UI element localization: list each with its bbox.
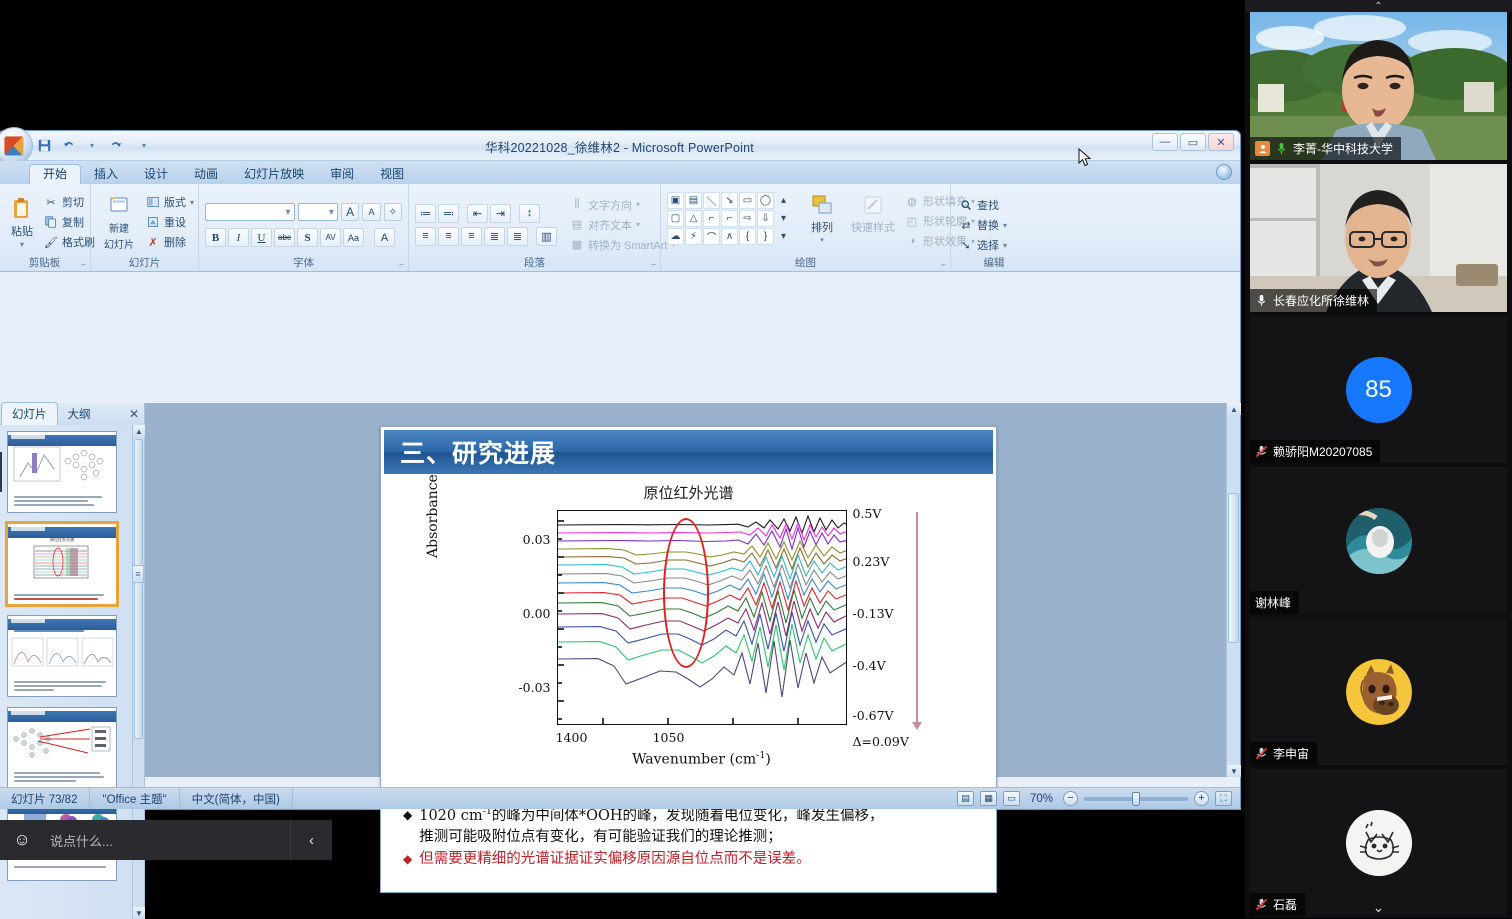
font-name-chevron-down-icon[interactable]: ▾ xyxy=(285,207,290,218)
line-spacing-button[interactable]: ↕ xyxy=(519,204,540,223)
select-chevron-down-icon[interactable]: ▾ xyxy=(1003,241,1007,250)
new-slide-label-2: 幻灯片 xyxy=(104,236,134,251)
arrange-label: 排列 xyxy=(811,219,833,235)
bullet-list-button[interactable]: ≔ xyxy=(415,204,436,223)
shape-right-arrow-icon[interactable]: ⇨ xyxy=(739,210,756,227)
delete-label: 删除 xyxy=(164,234,186,250)
grow-font-button[interactable]: A xyxy=(341,203,359,221)
avatar xyxy=(1346,810,1412,876)
help-icon[interactable]: ? xyxy=(1216,164,1232,180)
replace-button[interactable]: ⇄ 替换 ▾ xyxy=(957,216,1009,234)
new-slide-button[interactable]: 新建 幻灯片 xyxy=(96,193,142,251)
emoji-icon[interactable]: ☺ xyxy=(0,820,44,860)
participant-tile[interactable]: 李菁-华中科技大学 xyxy=(1250,12,1507,160)
tab-design[interactable]: 设计 xyxy=(131,165,181,184)
shrink-font-button[interactable]: A xyxy=(362,203,380,221)
thumbnail-content xyxy=(8,443,116,512)
zoom-in-button[interactable]: + xyxy=(1194,791,1209,806)
font-size-chevron-down-icon[interactable]: ▾ xyxy=(329,207,334,218)
bold-button[interactable]: B xyxy=(205,228,226,247)
thumbnail-slide-4[interactable] xyxy=(7,707,117,789)
participant-name-chip: 李申宙 xyxy=(1250,742,1317,765)
participant-video-rail: ⌃ xyxy=(1245,0,1512,918)
slide-scroll-up-icon[interactable]: ▲ xyxy=(1227,403,1241,415)
slide-counter: 幻灯片 73/82 xyxy=(0,788,90,809)
zoom-level-label: 70% xyxy=(1030,793,1053,805)
arrange-icon xyxy=(809,192,835,218)
thumbnail-content: 原位红外光谱 xyxy=(8,535,116,604)
paste-dropdown-icon[interactable]: ▾ xyxy=(20,240,24,249)
tab-slideshow[interactable]: 幻灯片放映 xyxy=(231,165,317,184)
shape-outline-icon: ◰ xyxy=(905,214,919,228)
paragraph-dialog-launcher-icon[interactable]: ⌐ xyxy=(651,260,656,269)
thumbnail-slide-2[interactable]: 原位红外光谱 xyxy=(7,523,117,605)
chart-y-axis-label: Absorbance xyxy=(425,474,441,558)
font-size-combo[interactable]: ▾ xyxy=(298,203,338,221)
font-name-combo[interactable]: ▾ xyxy=(205,203,295,221)
arrange-chevron-down-icon[interactable]: ▾ xyxy=(820,236,824,244)
scissors-icon: ✂ xyxy=(44,195,58,209)
italic-button[interactable]: I xyxy=(228,228,249,247)
potential-label-neg-0-13v: -0.13V xyxy=(853,606,894,621)
participant-tile[interactable]: 谢林峰 xyxy=(1250,467,1507,614)
shape-rect-icon[interactable]: ▭ xyxy=(739,192,756,209)
microphone-muted-icon xyxy=(1255,746,1268,761)
layout-icon xyxy=(146,195,160,209)
participant-name: 赖骄阳M20207085 xyxy=(1273,443,1372,460)
participant-name: 李申宙 xyxy=(1273,745,1309,762)
shape-line-icon[interactable]: ＼ xyxy=(703,192,720,209)
slide-scrollbar-thumb[interactable] xyxy=(1228,493,1239,643)
zoom-slider-thumb[interactable] xyxy=(1132,792,1140,806)
chart-title: 原位红外光谱 xyxy=(429,482,949,503)
close-pane-icon[interactable]: ✕ xyxy=(129,407,139,421)
x-axis-label-superscript: -1 xyxy=(756,750,765,761)
align-text-label: 对齐文本 xyxy=(588,217,632,233)
host-badge-icon xyxy=(1255,141,1270,156)
x-tick-1050: 1050 xyxy=(634,730,704,745)
bullet-item-1: ◆ 1020 cm-1的峰为中间体*OOH的峰，发现随着电位变化，峰发生偏移，推… xyxy=(403,805,982,848)
arrange-button[interactable]: 排列 ▾ xyxy=(799,192,845,244)
rail-collapse-up-button[interactable]: ⌃ xyxy=(1245,0,1512,12)
language-indicator[interactable]: 中文(简体，中国) xyxy=(180,788,293,809)
potential-label-neg-0-4v: -0.4V xyxy=(853,658,886,673)
paragraph-group-label: 段落 xyxy=(409,255,660,270)
align-text-chevron-down-icon[interactable]: ▾ xyxy=(636,220,640,229)
shape-right-brace-icon[interactable]: } xyxy=(757,228,774,245)
tab-animations[interactable]: 动画 xyxy=(181,165,231,184)
window-title: 华科20221028_徐维林2 - Microsoft PowerPoint xyxy=(0,137,1240,156)
slide-title-banner: 三、研究进展 xyxy=(384,430,993,474)
status-bar-right: ▤ ▦ ▭ 70% − + ⛶ xyxy=(957,791,1240,806)
ribbon-group-slides: 新建 幻灯片 版式 ▾ xyxy=(91,184,199,271)
shape-cloud-icon[interactable]: ☁ xyxy=(667,228,684,245)
drawing-group-label: 绘图 xyxy=(661,255,950,270)
replace-icon: ⇄ xyxy=(959,218,973,232)
rail-scroll-down-button[interactable]: ⌄ xyxy=(1245,899,1512,916)
shape-arrow-icon[interactable]: ↘ xyxy=(721,192,738,209)
clipboard-group-label: 剪贴板 xyxy=(0,255,90,270)
shape-triangle-icon[interactable]: △ xyxy=(685,210,702,227)
rail-expand-handle[interactable]: › xyxy=(0,452,2,492)
chat-collapse-button[interactable]: ‹ xyxy=(290,820,332,860)
shape-angle-icon[interactable]: ∧ xyxy=(721,228,738,245)
potential-step-annotation: Δ=0.09V xyxy=(853,734,909,749)
thumbnail-slide-1[interactable] xyxy=(7,431,117,513)
character-spacing-button[interactable]: AV xyxy=(320,228,341,247)
tab-slides-thumbnails[interactable]: 幻灯片 xyxy=(1,402,58,425)
thumbnail-pane-tabs: 幻灯片 大纲 ✕ xyxy=(0,403,144,425)
font-color-button[interactable]: A xyxy=(374,228,395,247)
replace-label: 替换 xyxy=(977,217,999,233)
y-tick-0-03: 0.03 xyxy=(503,532,551,547)
paintbrush-icon: 🖌 xyxy=(44,235,58,249)
slide-title-text: 三、研究进展 xyxy=(400,434,556,470)
delete-icon: ✗ xyxy=(146,235,160,249)
distribute-button[interactable]: ≣ xyxy=(507,227,528,246)
slide-scroll-down-icon[interactable]: ▼ xyxy=(1227,765,1241,777)
y-tick-neg-0-03: -0.03 xyxy=(499,680,551,695)
tab-insert[interactable]: 插入 xyxy=(81,165,131,184)
shapes-scroll-down-icon[interactable]: ▾ xyxy=(775,210,792,227)
bullet-marker-icon: ◆ xyxy=(403,805,412,848)
reset-icon xyxy=(146,215,160,229)
new-slide-label-1: 新建 xyxy=(109,220,129,235)
layout-button[interactable]: 版式 ▾ xyxy=(144,193,196,211)
layout-label: 版式 xyxy=(164,194,186,210)
ribbon-group-clipboard: 粘贴 ▾ ✂ 剪切 xyxy=(0,184,91,271)
current-slide[interactable]: 三、研究进展 原位红外光谱 Absorbance 0.03 0.00 -0.03 xyxy=(380,426,997,893)
participant-name: 长春应化所徐维林 xyxy=(1273,292,1369,309)
shape-arc-icon[interactable]: ⌒ xyxy=(703,228,720,245)
shape-lightning-icon[interactable]: ⚡ xyxy=(685,228,702,245)
cut-label: 剪切 xyxy=(62,194,84,210)
replace-chevron-down-icon[interactable]: ▾ xyxy=(1003,221,1007,230)
ribbon-group-font: ▾ ▾ A A ✧ B I xyxy=(199,184,409,271)
view-slideshow-button[interactable]: ▭ xyxy=(1003,791,1020,806)
align-text-icon: ▤ xyxy=(570,218,584,232)
new-slide-icon xyxy=(106,193,132,219)
align-left-button[interactable]: ≡ xyxy=(415,227,436,246)
slide-editing-area[interactable]: 三、研究进展 原位红外光谱 Absorbance 0.03 0.00 -0.03 xyxy=(145,403,1226,777)
paste-label: 粘贴 xyxy=(11,223,33,239)
align-right-button[interactable]: ≡ xyxy=(461,227,482,246)
bullet-text-1: 1020 cm-1的峰为中间体*OOH的峰，发现随着电位变化，峰发生偏移，推测可… xyxy=(419,805,883,848)
decrease-indent-button[interactable]: ⇤ xyxy=(467,204,488,223)
convert-smartart-label: 转换为 SmartArt xyxy=(588,237,667,253)
scrollbar-grip[interactable]: ≡ xyxy=(132,565,144,583)
participant-tile[interactable]: 石磊 xyxy=(1250,769,1507,916)
zoom-slider[interactable] xyxy=(1084,797,1188,801)
avatar: 85 xyxy=(1346,357,1412,423)
participant-tile[interactable]: 李申宙 xyxy=(1250,618,1507,765)
chat-input-bar[interactable]: ☺ 说点什么... ‹ xyxy=(0,820,332,860)
potential-label-0-23v: 0.23V xyxy=(853,554,890,569)
quick-styles-label: 快速样式 xyxy=(851,219,895,235)
bullet-item-2: ◆ 但需要更精细的光谱证据证实偏移原因源自位点而不是误差。 xyxy=(403,849,982,870)
potential-direction-arrow-icon xyxy=(916,512,918,724)
clear-formatting-button[interactable]: ✧ xyxy=(384,203,402,221)
chat-input[interactable]: 说点什么... xyxy=(44,831,290,850)
ir-spectra-figure: 原位红外光谱 Absorbance 0.03 0.00 -0.03 xyxy=(429,482,949,772)
drawing-dialog-launcher-icon[interactable]: ⌐ xyxy=(941,260,946,269)
thumbnail-content xyxy=(8,719,116,788)
participant-tile[interactable]: 长春应化所徐维林 xyxy=(1250,164,1507,312)
format-painter-button[interactable]: 🖌 格式刷 xyxy=(42,233,97,251)
bullet-1-post: 的峰为中间体*OOH的峰，发现随着电位变化，峰发生偏移， xyxy=(492,808,884,824)
y-tick-0-00: 0.00 xyxy=(503,606,551,621)
ribbon-group-editing: 查找 ⇄ 替换 ▾ ➘ 选择 ▾ xyxy=(951,184,1037,271)
close-button[interactable]: ✕ xyxy=(1208,133,1234,151)
potential-label-neg-0-67v: -0.67V xyxy=(853,708,894,723)
thumbnail-content xyxy=(8,627,116,696)
ribbon-tab-strip: 开始 插入 设计 动画 幻灯片放映 审阅 视图 ? xyxy=(0,161,1240,184)
justify-button[interactable]: ≣ xyxy=(484,227,505,246)
maximize-button[interactable]: ▭ xyxy=(1180,133,1206,151)
x-axis-label-tail: ) xyxy=(765,752,770,768)
numbered-list-button[interactable]: ≕ xyxy=(438,204,459,223)
participant-tile[interactable]: 85 赖骄阳M20207085 xyxy=(1250,316,1507,463)
theme-name[interactable]: "Office 主题" xyxy=(90,788,179,809)
fit-slide-to-window-button[interactable]: ⛶ xyxy=(1215,791,1232,806)
bullet-1-line2: 推测可能吸附位点有变化，有可能验证我们的理论推测； xyxy=(419,829,782,845)
quick-styles-button[interactable]: 快速样式 xyxy=(848,192,898,235)
font-group-label: 字体 xyxy=(199,255,408,270)
shape-picture-icon[interactable]: ▤ xyxy=(685,192,702,209)
participant-name: 谢林峰 xyxy=(1255,594,1291,611)
paste-icon xyxy=(9,196,35,222)
shrink-font-label: A xyxy=(368,207,374,217)
participant-name-chip: 赖骄阳M20207085 xyxy=(1250,440,1380,463)
microphone-muted-icon xyxy=(1255,444,1268,459)
tab-home[interactable]: 开始 xyxy=(29,164,81,184)
scroll-up-icon[interactable]: ▲ xyxy=(133,425,145,437)
find-button[interactable]: 查找 xyxy=(957,196,1009,214)
zoom-out-button[interactable]: − xyxy=(1063,791,1078,806)
ribbon: 粘贴 ▾ ✂ 剪切 xyxy=(0,184,1240,272)
bullet-1-pre: 1020 cm xyxy=(419,808,482,824)
participant-name-chip: 长春应化所徐维林 xyxy=(1250,289,1377,312)
delete-slide-button[interactable]: ✗ 删除 xyxy=(144,233,196,251)
tab-review[interactable]: 审阅 xyxy=(317,165,367,184)
shape-textbox-icon[interactable]: ▣ xyxy=(667,192,684,209)
window-controls: — ▭ ✕ xyxy=(1152,133,1234,151)
view-normal-button[interactable]: ▤ xyxy=(957,791,974,806)
bullet-marker-icon: ◆ xyxy=(403,849,412,870)
font-dialog-launcher-icon[interactable]: ⌐ xyxy=(399,260,404,269)
shapes-more-icon[interactable]: ▾ xyxy=(775,228,792,245)
x-axis-label-base: Wavenumber (cm xyxy=(632,752,756,768)
title-bar: ▾ ▾ 华科20221028_徐维林2 - Microsoft PowerPoi… xyxy=(0,131,1240,161)
participant-name-chip: 谢林峰 xyxy=(1250,591,1299,614)
shape-down-arrow-icon[interactable]: ⇩ xyxy=(757,210,774,227)
participant-name: 李菁-华中科技大学 xyxy=(1293,140,1393,157)
scroll-down-icon[interactable]: ▼ xyxy=(133,907,145,919)
find-label: 查找 xyxy=(977,197,999,213)
columns-button[interactable]: ▥ xyxy=(536,227,557,246)
strikethrough-button[interactable]: abc xyxy=(274,228,295,247)
microphone-icon xyxy=(1255,293,1268,308)
screen: ▾ ▾ 华科20221028_徐维林2 - Microsoft PowerPoi… xyxy=(0,0,1512,918)
bullet-text-2: 但需要更精细的光谱证据证实偏移原因源自位点而不是误差。 xyxy=(419,849,811,870)
avatar xyxy=(1346,508,1412,574)
smartart-icon: ▩ xyxy=(570,238,584,252)
x-axis-ticks xyxy=(558,714,847,724)
tab-view[interactable]: 视图 xyxy=(367,165,417,184)
shape-fill-icon: ◍ xyxy=(905,194,919,208)
view-slide-sorter-button[interactable]: ▦ xyxy=(980,791,997,806)
minimize-button[interactable]: — xyxy=(1152,133,1178,151)
slide-area-scrollbar[interactable]: ▲ ▼ xyxy=(1226,403,1240,777)
screen-background xyxy=(0,0,1245,130)
ribbon-group-drawing: ▣ ▤ ＼ ↘ ▭ ◯ ▴ ▢ △ ⌐ ⌐ ⇨ ⇩ xyxy=(661,184,951,271)
shape-elbow-icon[interactable]: ⌐ xyxy=(703,210,720,227)
shapes-gallery[interactable]: ▣ ▤ ＼ ↘ ▭ ◯ ▴ ▢ △ ⌐ ⌐ ⇨ ⇩ xyxy=(667,192,792,245)
clear-formatting-icon: ✧ xyxy=(389,207,397,218)
chart-plot-area xyxy=(557,510,847,725)
layout-dropdown-icon[interactable]: ▾ xyxy=(190,198,194,207)
tab-outline[interactable]: 大纲 xyxy=(58,403,101,425)
editing-group-label: 编辑 xyxy=(951,255,1037,270)
change-case-button[interactable]: Aa xyxy=(343,228,364,247)
potential-label-0-5v: 0.5V xyxy=(853,506,882,521)
copy-button[interactable]: 复制 xyxy=(42,213,97,231)
copy-label: 复制 xyxy=(62,214,84,230)
text-direction-label: 文字方向 xyxy=(588,197,632,213)
x-tick-1400: 1400 xyxy=(537,730,607,745)
slides-group-label: 幻灯片 xyxy=(91,255,198,270)
text-direction-icon: ⫼ xyxy=(570,198,584,212)
shared-screen-region: ▾ ▾ 华科20221028_徐维林2 - Microsoft PowerPoi… xyxy=(0,0,1245,918)
scrollbar-thumb[interactable] xyxy=(134,439,143,739)
reset-button[interactable]: 重设 xyxy=(144,213,196,231)
status-bar: 幻灯片 73/82 "Office 主题" 中文(简体，中国) ▤ ▦ ▭ 70… xyxy=(0,787,1240,809)
select-button[interactable]: ➘ 选择 ▾ xyxy=(957,236,1009,254)
microphone-icon xyxy=(1275,141,1288,156)
ribbon-group-paragraph: ≔ ≕ ⇤ ⇥ ↕ ≡ ≡ ≡ ≣ ≣ xyxy=(409,184,661,271)
slide-bullet-list: ◆ 1020 cm-1的峰为中间体*OOH的峰，发现随着电位变化，峰发生偏移，推… xyxy=(403,805,982,871)
shapes-scroll-up-icon[interactable]: ▴ xyxy=(775,192,792,209)
text-direction-chevron-down-icon[interactable]: ▾ xyxy=(636,200,640,209)
copy-icon xyxy=(44,215,58,229)
participant-name-chip: 李菁-华中科技大学 xyxy=(1250,137,1401,160)
shape-roundrect-icon[interactable]: ▢ xyxy=(667,210,684,227)
align-center-button[interactable]: ≡ xyxy=(438,227,459,246)
cursor-icon: ➘ xyxy=(959,238,973,252)
clipboard-dialog-launcher-icon[interactable]: ⌐ xyxy=(81,260,86,269)
thumbnail-slide-3[interactable] xyxy=(7,615,117,697)
shape-oval-icon[interactable]: ◯ xyxy=(757,192,774,209)
spectra-svg xyxy=(558,511,847,725)
shape-effects-icon: ◑ xyxy=(905,234,919,248)
y-axis-ticks xyxy=(558,511,568,725)
reset-label: 重设 xyxy=(164,214,186,230)
find-icon xyxy=(959,198,973,212)
chart-x-axis-label: Wavenumber (cm-1) xyxy=(557,750,847,768)
avatar xyxy=(1346,659,1412,725)
shape-left-brace-icon[interactable]: { xyxy=(739,228,756,245)
quick-styles-icon xyxy=(860,192,886,218)
text-shadow-button[interactable]: S xyxy=(297,228,318,247)
select-label: 选择 xyxy=(977,237,999,253)
shape-elbow-arrow-icon[interactable]: ⌐ xyxy=(721,210,738,227)
increase-indent-button[interactable]: ⇥ xyxy=(490,204,511,223)
cut-button[interactable]: ✂ 剪切 xyxy=(42,193,97,211)
grow-font-label: A xyxy=(346,205,354,219)
mouse-cursor-icon xyxy=(1078,148,1092,168)
underline-button[interactable]: U xyxy=(251,228,272,247)
powerpoint-window: ▾ ▾ 华科20221028_徐维林2 - Microsoft PowerPoi… xyxy=(0,130,1241,810)
paste-button[interactable]: 粘贴 ▾ xyxy=(0,196,45,249)
